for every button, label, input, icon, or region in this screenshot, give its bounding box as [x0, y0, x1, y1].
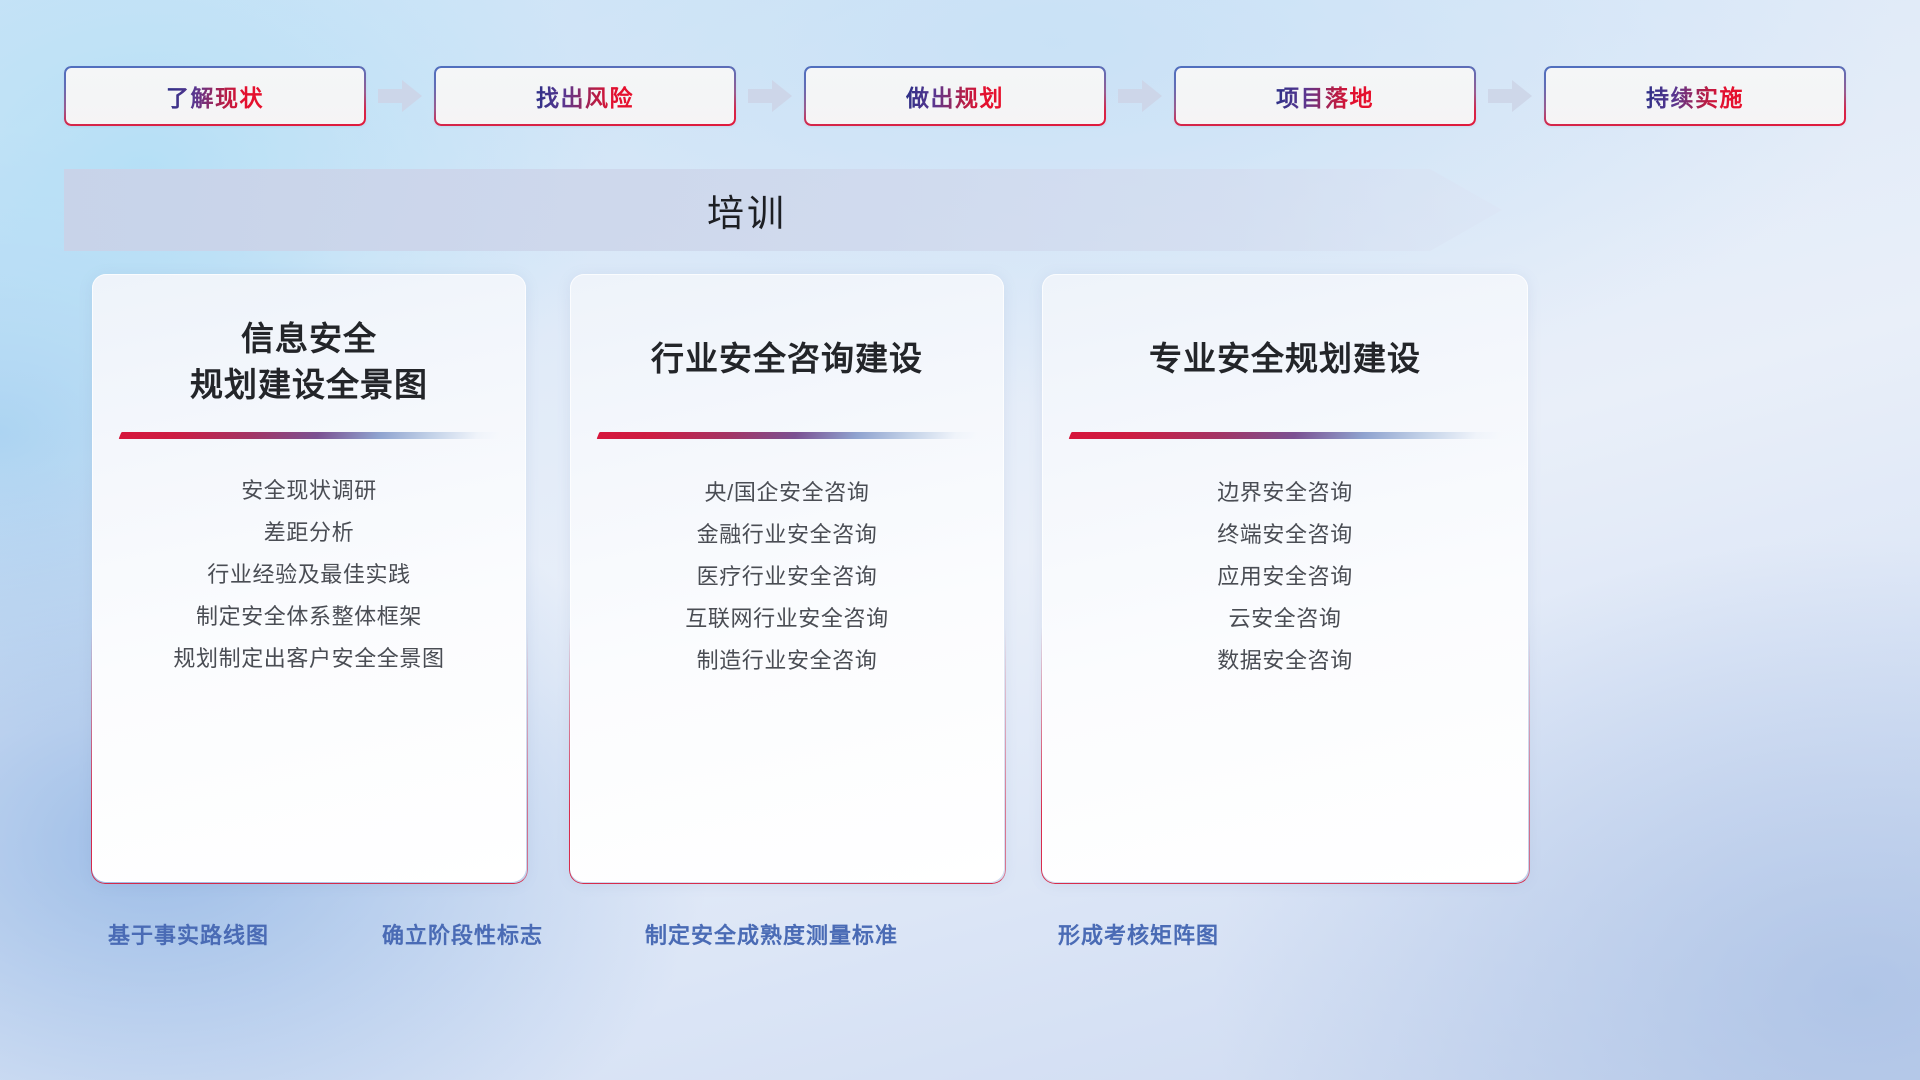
- step-box-1[interactable]: 了解现状: [64, 66, 366, 126]
- list-item: 终端安全咨询: [1042, 524, 1528, 546]
- caption-row: 基于事实路线图 确立阶段性标志 制定安全成熟度测量标准 形成考核矩阵图: [0, 918, 1920, 962]
- list-item: 边界安全咨询: [1042, 482, 1528, 504]
- list-item: 云安全咨询: [1042, 608, 1528, 630]
- list-item: 差距分析: [92, 522, 526, 544]
- card-1-list: 安全现状调研 差距分析 行业经验及最佳实践 制定安全体系整体框架 规划制定出客户…: [92, 480, 526, 670]
- card-3-divider: [1069, 432, 1504, 439]
- step-label-2: 找出风险: [536, 79, 634, 113]
- step-box-4[interactable]: 项目落地: [1174, 66, 1476, 126]
- caption-3: 制定安全成熟度测量标准: [645, 918, 898, 950]
- list-item: 行业经验及最佳实践: [92, 564, 526, 586]
- list-item: 制定安全体系整体框架: [92, 606, 526, 628]
- step-box-5[interactable]: 持续实施: [1544, 66, 1846, 126]
- list-item: 应用安全咨询: [1042, 566, 1528, 588]
- card-professional-security-planning[interactable]: 专业安全规划建设 边界安全咨询 终端安全咨询 应用安全咨询 云安全咨询 数据安全…: [1042, 274, 1528, 882]
- list-item: 数据安全咨询: [1042, 650, 1528, 672]
- list-item: 安全现状调研: [92, 480, 526, 502]
- card-information-security-blueprint[interactable]: 信息安全 规划建设全景图 安全现状调研 差距分析 行业经验及最佳实践 制定安全体…: [92, 274, 526, 882]
- list-item: 互联网行业安全咨询: [570, 608, 1004, 630]
- step-connector-arrow-4: [1476, 66, 1544, 126]
- step-connector-arrow-1: [366, 66, 434, 126]
- step-connector-arrow-3: [1106, 66, 1174, 126]
- step-box-2[interactable]: 找出风险: [434, 66, 736, 126]
- caption-2: 确立阶段性标志: [382, 918, 543, 950]
- training-banner: 培训: [64, 169, 1502, 251]
- card-2-head: 行业安全咨询建设: [570, 336, 1004, 382]
- step-label-5: 持续实施: [1646, 79, 1744, 113]
- step-connector-arrow-2: [736, 66, 804, 126]
- card-3-head: 专业安全规划建设: [1042, 336, 1528, 382]
- training-banner-title: 培训: [64, 169, 1430, 251]
- card-3-list: 边界安全咨询 终端安全咨询 应用安全咨询 云安全咨询 数据安全咨询: [1042, 482, 1528, 672]
- card-industry-security-consulting[interactable]: 行业安全咨询建设 央/国企安全咨询 金融行业安全咨询 医疗行业安全咨询 互联网行…: [570, 274, 1004, 882]
- card-1-divider: [119, 432, 502, 439]
- list-item: 规划制定出客户安全全景图: [92, 648, 526, 670]
- slide-canvas: 了解现状 找出风险 做出规划 项目落地: [0, 0, 1920, 1080]
- card-1-title: 信息安全 规划建设全景图: [110, 316, 508, 407]
- step-label-3: 做出规划: [906, 79, 1004, 113]
- caption-1: 基于事实路线图: [108, 918, 269, 950]
- card-1-head: 信息安全 规划建设全景图: [92, 316, 526, 407]
- list-item: 制造行业安全咨询: [570, 650, 1004, 672]
- card-2-list: 央/国企安全咨询 金融行业安全咨询 医疗行业安全咨询 互联网行业安全咨询 制造行…: [570, 482, 1004, 672]
- step-label-1: 了解现状: [166, 79, 264, 113]
- list-item: 医疗行业安全咨询: [570, 566, 1004, 588]
- step-box-3[interactable]: 做出规划: [804, 66, 1106, 126]
- card-3-title: 专业安全规划建设: [1060, 336, 1510, 382]
- caption-4: 形成考核矩阵图: [1058, 918, 1219, 950]
- card-group: 信息安全 规划建设全景图 安全现状调研 差距分析 行业经验及最佳实践 制定安全体…: [92, 274, 1832, 882]
- card-2-title: 行业安全咨询建设: [588, 336, 986, 382]
- card-2-divider: [597, 432, 980, 439]
- list-item: 金融行业安全咨询: [570, 524, 1004, 546]
- step-label-4: 项目落地: [1276, 79, 1374, 113]
- list-item: 央/国企安全咨询: [570, 482, 1004, 504]
- process-step-row: 了解现状 找出风险 做出规划 项目落地: [64, 66, 1856, 126]
